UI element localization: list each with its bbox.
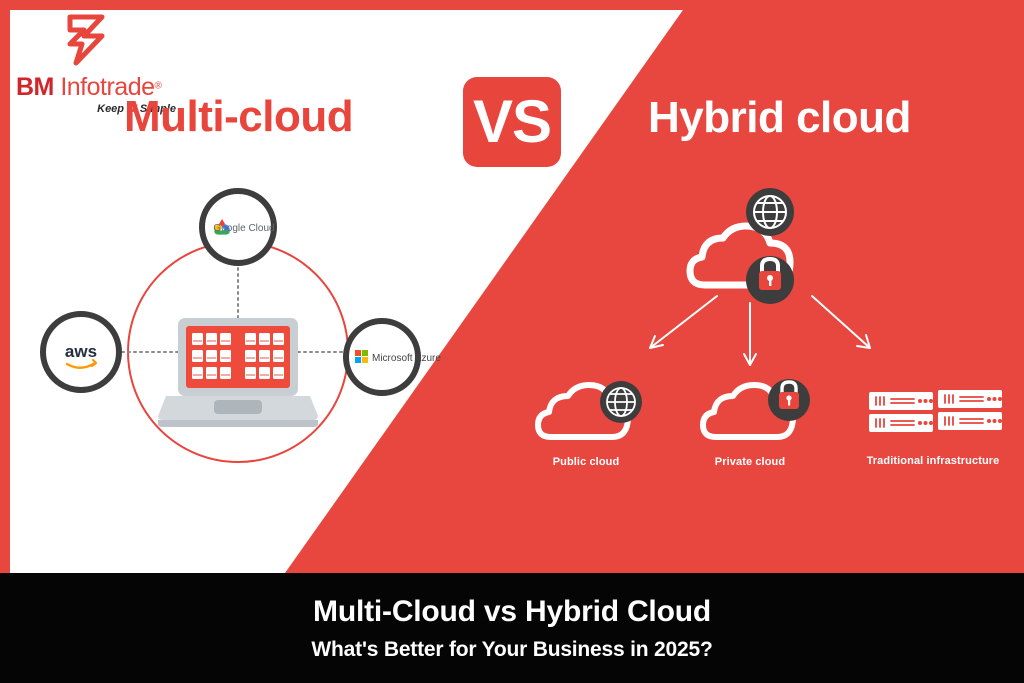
public-cloud-node	[538, 381, 642, 437]
arrow-to-private-cloud	[744, 303, 756, 365]
private-cloud-node	[703, 379, 810, 437]
arrow-to-public-cloud	[650, 296, 717, 348]
label-public-cloud: Public cloud	[522, 456, 650, 468]
hybrid-top-cloud-node	[690, 188, 794, 304]
infographic-canvas: BM Infotrade® Keep IT Simple Multi-cloud…	[0, 0, 1024, 683]
arrow-to-traditional-infrastructure	[812, 296, 870, 348]
caption-title: Multi-Cloud vs Hybrid Cloud	[313, 595, 711, 629]
lock-icon	[746, 256, 794, 304]
globe-icon	[600, 381, 642, 423]
globe-icon	[746, 188, 794, 236]
server-rack-icon	[869, 390, 1002, 432]
caption-bar: Multi-Cloud vs Hybrid Cloud What's Bette…	[0, 573, 1024, 683]
caption-subtitle: What's Better for Your Business in 2025?	[311, 638, 712, 662]
lock-icon	[768, 379, 810, 421]
label-private-cloud: Private cloud	[686, 456, 814, 468]
traditional-infrastructure-node	[869, 390, 1002, 432]
label-traditional-infrastructure: Traditional infrastructure	[857, 455, 1009, 467]
